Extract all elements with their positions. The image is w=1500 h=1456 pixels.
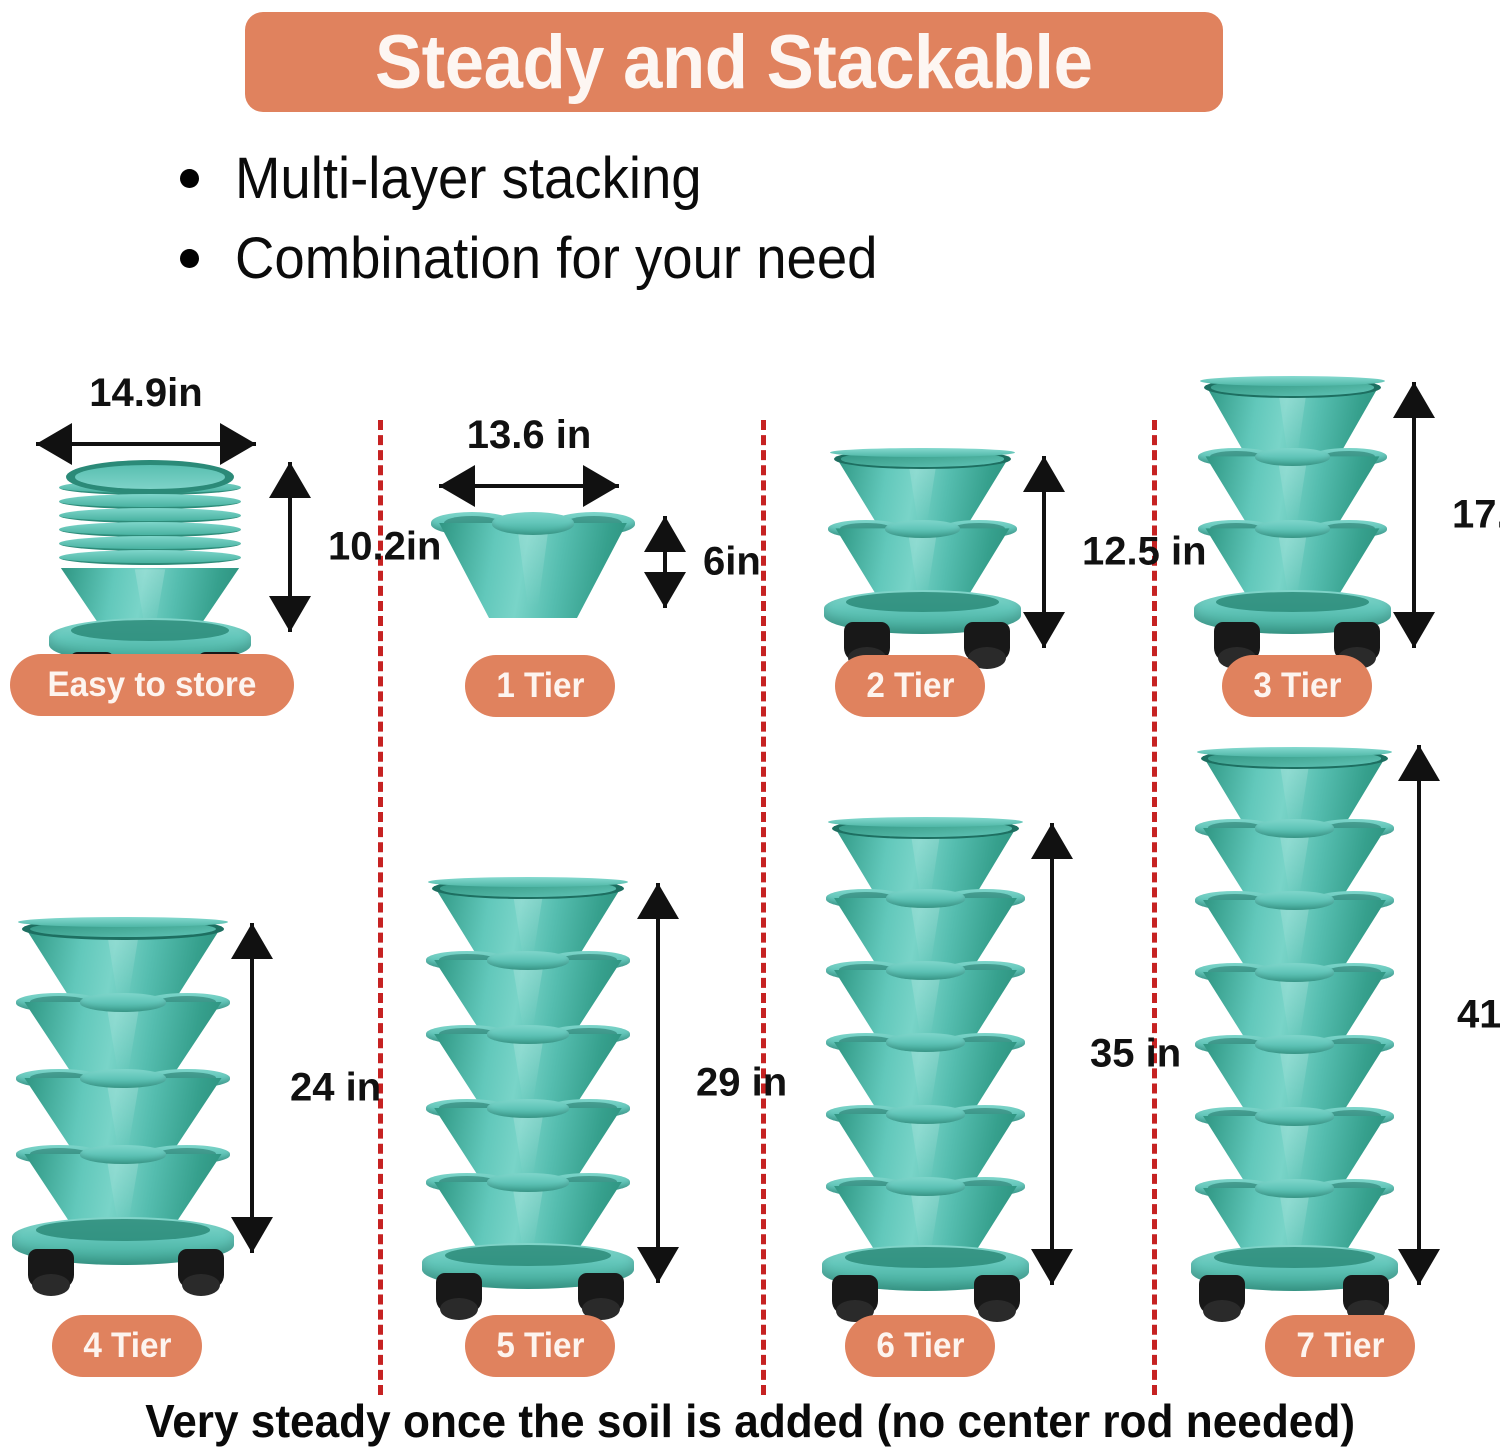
arrow-head-down-icon <box>637 1247 679 1283</box>
badge-6-tier: 6 Tier <box>845 1315 995 1377</box>
badge-7-tier: 7 Tier <box>1265 1315 1415 1377</box>
arrow-head-up-icon <box>637 883 679 919</box>
arrow-line <box>1417 745 1421 1285</box>
caster-wheel-icon <box>832 1275 878 1315</box>
list-item: Combination for your need <box>180 218 1180 298</box>
dimension-height-label: 29 in <box>696 1061 787 1106</box>
bullet-dot-icon <box>180 249 199 268</box>
product-panel-4-tier: 24 in <box>8 905 358 1295</box>
arrow-head-up-icon <box>269 462 311 498</box>
bullet-dot-icon <box>180 169 199 188</box>
planter-illustration-7-tier <box>1197 747 1392 1277</box>
column-separator <box>761 420 766 1395</box>
product-panel-5-tier: 29 in <box>408 865 758 1295</box>
collar-lobe <box>886 961 966 980</box>
arrow-head-down-icon <box>1031 1249 1073 1285</box>
planter-illustration-3-tier <box>1200 376 1385 666</box>
page-title: Steady and Stackable <box>375 19 1092 106</box>
dimension-height-label: 6in <box>703 540 761 585</box>
banner-steady-and-stackable: Steady and Stackable <box>245 12 1223 112</box>
arrow-head-up-icon <box>1031 823 1073 859</box>
collar-lobe <box>80 1069 166 1088</box>
saucer-well <box>445 1245 610 1266</box>
arrow-head-down-icon <box>1393 612 1435 648</box>
caster-wheel-icon <box>436 1273 482 1313</box>
dimension-height-label: 17.5 in <box>1452 493 1500 538</box>
arrow-head-down-icon <box>231 1217 273 1253</box>
collar-lobe <box>886 1105 966 1124</box>
dimension-height-arrow: 17.5 in <box>1392 382 1436 648</box>
badge-label: 6 Tier <box>876 1326 964 1366</box>
footer-caption: Very steady once the soil is added (no c… <box>0 1394 1500 1448</box>
dimension-width-label: 14.9in <box>89 371 202 416</box>
planter-illustration-6-tier <box>828 817 1023 1277</box>
list-item: Multi-layer stacking <box>180 138 1180 218</box>
saucer-well <box>846 592 999 612</box>
caster-wheel-icon <box>964 622 1010 662</box>
planter-illustration-5-tier <box>428 877 628 1277</box>
arrow-line <box>1050 823 1054 1285</box>
caster-wheel-icon <box>178 1249 224 1289</box>
collar-lobe <box>1255 1107 1335 1126</box>
arrow-head-up-icon <box>1023 456 1065 492</box>
saucer-well <box>845 1247 1006 1268</box>
arrow-head-up-icon <box>1393 382 1435 418</box>
planter-illustration-4-tier <box>18 917 228 1277</box>
saucer-well <box>1214 1247 1375 1268</box>
collar-lobe <box>1255 819 1335 838</box>
planter-tier <box>18 993 228 1081</box>
dimension-height-arrow: 10.2in <box>268 462 312 632</box>
dimension-height-arrow: 41 in <box>1397 745 1441 1285</box>
arrow-line <box>250 923 254 1253</box>
planter-rim <box>18 917 228 927</box>
caster-wheel-icon <box>974 1275 1020 1315</box>
tray-plate <box>59 508 241 523</box>
saucer-well <box>71 620 228 641</box>
badge-1-tier: 1 Tier <box>465 655 615 717</box>
arrow-line <box>656 883 660 1283</box>
collar-lobe <box>1255 1035 1335 1054</box>
badge-label: 4 Tier <box>83 1326 171 1366</box>
badge-label: 1 Tier <box>496 666 584 706</box>
arrow-head-right-icon <box>583 465 619 507</box>
product-panel-6-tier: 35 in <box>800 805 1150 1295</box>
planter-rim <box>1197 747 1392 757</box>
collar-lobe <box>80 993 166 1012</box>
dimension-height-arrow: 35 in <box>1030 823 1074 1285</box>
tray-mouth <box>66 460 233 494</box>
planter-tier <box>433 512 633 618</box>
collar-lobe <box>487 1025 569 1044</box>
caster-wheel-icon <box>1343 1275 1389 1315</box>
dimension-height-label: 41 in <box>1457 993 1500 1038</box>
collar-lobe <box>80 1145 166 1164</box>
bullet-label: Multi-layer stacking <box>235 145 702 212</box>
badge-easy-to-store: Easy to store <box>10 654 294 716</box>
collar-lobe <box>487 1099 569 1118</box>
badge-3-tier: 3 Tier <box>1222 655 1372 717</box>
dimension-width-label: 13.6 in <box>467 413 592 458</box>
badge-4-tier: 4 Tier <box>52 1315 202 1377</box>
arrow-head-down-icon <box>644 572 686 608</box>
saucer-well <box>36 1219 210 1241</box>
arrow-head-up-icon <box>1398 745 1440 781</box>
collar-lobe <box>886 1033 966 1052</box>
badge-label: 5 Tier <box>496 1326 584 1366</box>
arrow-head-down-icon <box>1023 612 1065 648</box>
badge-label: 7 Tier <box>1296 1326 1384 1366</box>
collar-lobe <box>487 951 569 970</box>
dimension-height-arrow: 29 in <box>636 883 680 1283</box>
planter-rim <box>428 877 628 887</box>
collar-lobe <box>886 889 966 908</box>
arrow-head-left-icon <box>36 423 72 465</box>
planter-tier <box>18 1069 228 1157</box>
planter-rim <box>828 817 1023 827</box>
planter-bowl <box>433 523 633 618</box>
badge-label: 3 Tier <box>1253 666 1341 706</box>
tray-plate <box>59 536 241 551</box>
collar-lobe <box>492 512 574 535</box>
collar-lobe <box>487 1173 569 1192</box>
arrow-head-right-icon <box>220 423 256 465</box>
planter-illustration-1-tier <box>433 512 633 622</box>
caster-wheel-icon <box>1199 1275 1245 1315</box>
arrow-head-left-icon <box>439 465 475 507</box>
dimension-height-label: 35 in <box>1090 1032 1181 1077</box>
planter-illustration-stacked <box>55 460 245 650</box>
collar-lobe <box>1255 1179 1335 1198</box>
feature-bullet-list: Multi-layer stacking Combination for you… <box>180 138 1180 298</box>
bullet-label: Combination for your need <box>235 225 878 292</box>
footer-caption-label: Very steady once the soil is added (no c… <box>145 1394 1355 1448</box>
tray-plate <box>59 494 241 509</box>
product-panel-7-tier: 41 in <box>1185 735 1500 1295</box>
saucer-well <box>1216 592 1369 612</box>
badge-label: Easy to store <box>48 665 257 705</box>
arrow-line <box>1412 382 1416 648</box>
collar-lobe <box>1255 891 1335 910</box>
collar-lobe <box>886 1177 966 1196</box>
dimension-height-label: 24 in <box>290 1066 381 1111</box>
planter-illustration-2-tier <box>830 448 1015 668</box>
caster-wheel-icon <box>578 1273 624 1313</box>
badge-label: 2 Tier <box>866 666 954 706</box>
caster-wheel-icon <box>28 1249 74 1289</box>
arrow-head-up-icon <box>231 923 273 959</box>
arrow-head-up-icon <box>644 516 686 552</box>
dimension-height-arrow: 12.5 in <box>1022 456 1066 648</box>
badge-5-tier: 5 Tier <box>465 1315 615 1377</box>
dimension-width-arrow: 13.6 in <box>439 464 619 508</box>
stacked-trays-group <box>55 460 245 566</box>
badge-2-tier: 2 Tier <box>835 655 985 717</box>
dimension-height-arrow: 24 in <box>230 923 274 1253</box>
tray-plate <box>59 522 241 537</box>
planter-rim <box>1200 376 1385 386</box>
arrow-head-down-icon <box>269 596 311 632</box>
dimension-height-arrow: 6in <box>643 516 687 608</box>
collar-lobe <box>1255 963 1335 982</box>
arrow-head-down-icon <box>1398 1249 1440 1285</box>
